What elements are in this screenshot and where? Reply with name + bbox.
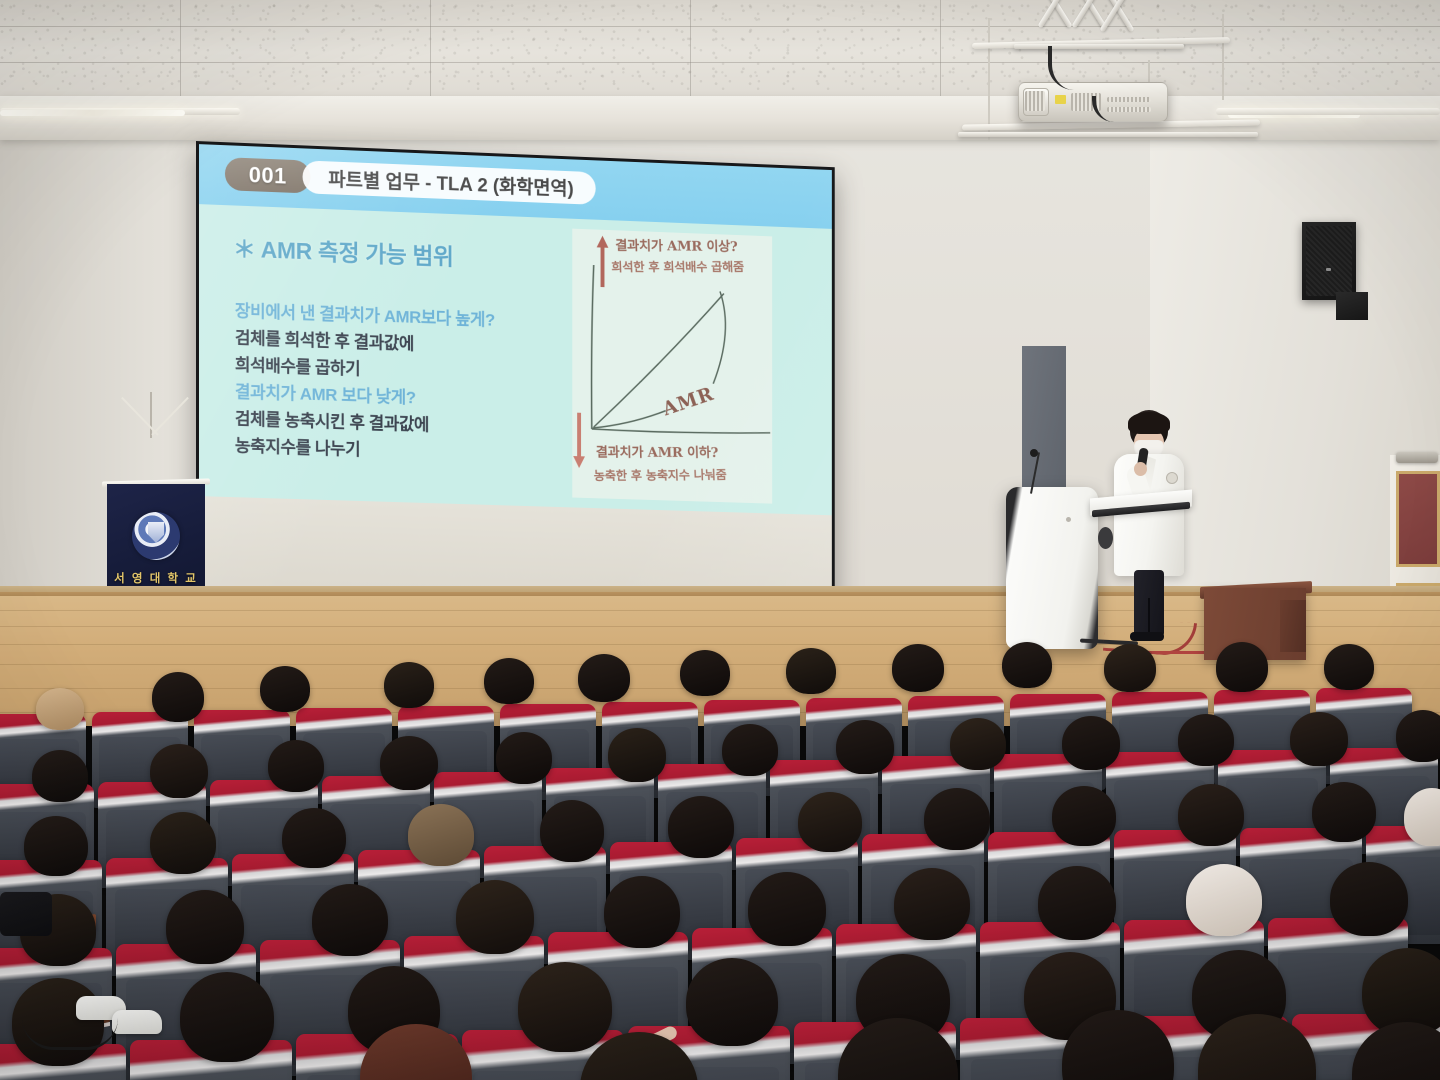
audience-head [380,736,438,790]
podium-button-icon[interactable] [1066,517,1071,522]
audience-head [1178,784,1244,846]
ceiling-seam [0,62,1440,63]
gooseneck-microphone-head [1030,449,1038,457]
presenter-hand [1134,462,1147,476]
audience-head [484,658,534,704]
audience-seating [0,626,1440,1080]
audience-head [1062,716,1120,770]
pennant-hook [150,392,152,438]
audience-head [1038,866,1116,940]
ceiling-seam [690,0,691,104]
audience-head [32,750,88,802]
audience-head [408,804,474,866]
audience-head [1178,714,1234,766]
audience-head [748,872,826,946]
ceiling-light-strip [1216,108,1440,115]
diagram-top-annotation-line1: 결과치가 AMR 이상? [615,234,738,255]
ceiling-rod [988,18,990,140]
projector-indicator [1055,95,1066,104]
audience-head [150,812,216,874]
ceiling-light [0,110,185,116]
audience-head [1290,712,1348,766]
audience-head [1052,786,1116,846]
slide-body: ＊ AMR 측정 가능 범위 장비에서 낸 결과치가 AMR보다 높게? 검체를… [199,204,832,515]
audience-head [282,808,346,868]
speaker-mount-bracket [1336,292,1368,320]
ceiling [0,0,1440,104]
audience-head [604,876,680,948]
audience-head [166,890,244,964]
audience-head [24,816,88,876]
podium [1006,487,1098,649]
projector-vent [1025,91,1045,111]
slide-title: 파트별 업무 - TLA 2 (화학면역) [303,160,596,204]
audience-head [578,654,630,702]
audience-head [180,972,274,1062]
ceiling-seam [940,0,941,104]
diagram-bottom-annotation-line1: 결과치가 AMR 이하? [595,441,718,461]
audience-head [1002,642,1052,688]
projector-mount-plate [1014,44,1184,49]
audience-head [540,800,604,862]
pennant-cord [151,397,189,436]
audience-head [608,728,666,782]
diagram-top-annotation-line2: 희석한 후 희석배수 곱해줌 [611,256,744,275]
pennant-line-1: 서 영 대 학 교 [88,572,224,587]
audience-head [950,718,1006,770]
audience-head [680,650,730,696]
ceiling-seam [430,0,431,104]
audience-head [1312,782,1376,842]
speaker-grill [1306,226,1352,296]
ceiling-seam [0,26,1440,27]
audience-head [686,958,778,1046]
lecture-hall-photo: 001 파트별 업무 - TLA 2 (화학면역) ＊ AMR 측정 가능 범위… [0,0,1440,1080]
audience-head [496,732,552,784]
audience-head [1186,864,1262,936]
amr-range-diagram: 결과치가 AMR 이상? 희석한 후 희석배수 곱해줌 AMR 결과치가 AMR… [572,229,772,504]
slide-number-badge: 001 [225,157,311,193]
ceiling-seam [180,0,181,104]
screen-surface: 001 파트별 업무 - TLA 2 (화학면역) ＊ AMR 측정 가능 범위… [199,144,832,603]
audience-head [668,796,734,858]
ceiling-rod [1222,14,1224,100]
audience-head [892,644,944,692]
audience-head [786,648,836,694]
door-closer-arm [1396,452,1438,463]
speaker-led-icon [1326,268,1331,271]
projector-lower-rail [958,132,1258,137]
audience-head [312,884,388,956]
podium-cable-port [1098,527,1113,549]
audience-head [150,744,208,798]
audience-head [1104,644,1156,692]
slide-text-block: 장비에서 낸 결과치가 AMR보다 높게? 검체를 희석한 후 결과값에 희석배… [235,297,561,469]
ceiling-texture [0,0,1440,104]
coat-emblem-icon [1166,472,1178,484]
audience-head [384,662,434,708]
audience-head [1396,710,1440,762]
projection-screen: 001 파트별 업무 - TLA 2 (화학면역) ＊ AMR 측정 가능 범위… [196,141,835,607]
projector-scissor-lift [1026,0,1156,40]
audience-head [722,724,778,776]
audience-head [836,720,894,774]
audience-head [1324,644,1374,690]
audience-head [518,962,612,1052]
audience-head [260,666,310,712]
audience-head [894,868,970,940]
audience-head [268,740,324,792]
backpack [0,892,52,936]
audience-head [1216,642,1268,692]
door-panel [1396,471,1440,567]
audience-head [36,688,84,730]
presentation-slide: 001 파트별 업무 - TLA 2 (화학면역) ＊ AMR 측정 가능 범위… [199,144,832,515]
audience-head [924,788,990,850]
audience-head [456,880,534,954]
pennant-cord [121,397,159,436]
diagram-bottom-annotation-line2: 농축한 후 농축지수 나눠줌 [593,464,726,484]
audience-head [1330,862,1408,936]
presenter-bangs [1128,412,1170,434]
presenter [1108,410,1188,642]
audience-shoe [112,1010,162,1034]
audience-head [152,672,204,722]
slide-section-heading: ＊ AMR 측정 가능 범위 [233,229,454,271]
wall-speaker [1302,222,1356,300]
audience-head [798,792,862,852]
